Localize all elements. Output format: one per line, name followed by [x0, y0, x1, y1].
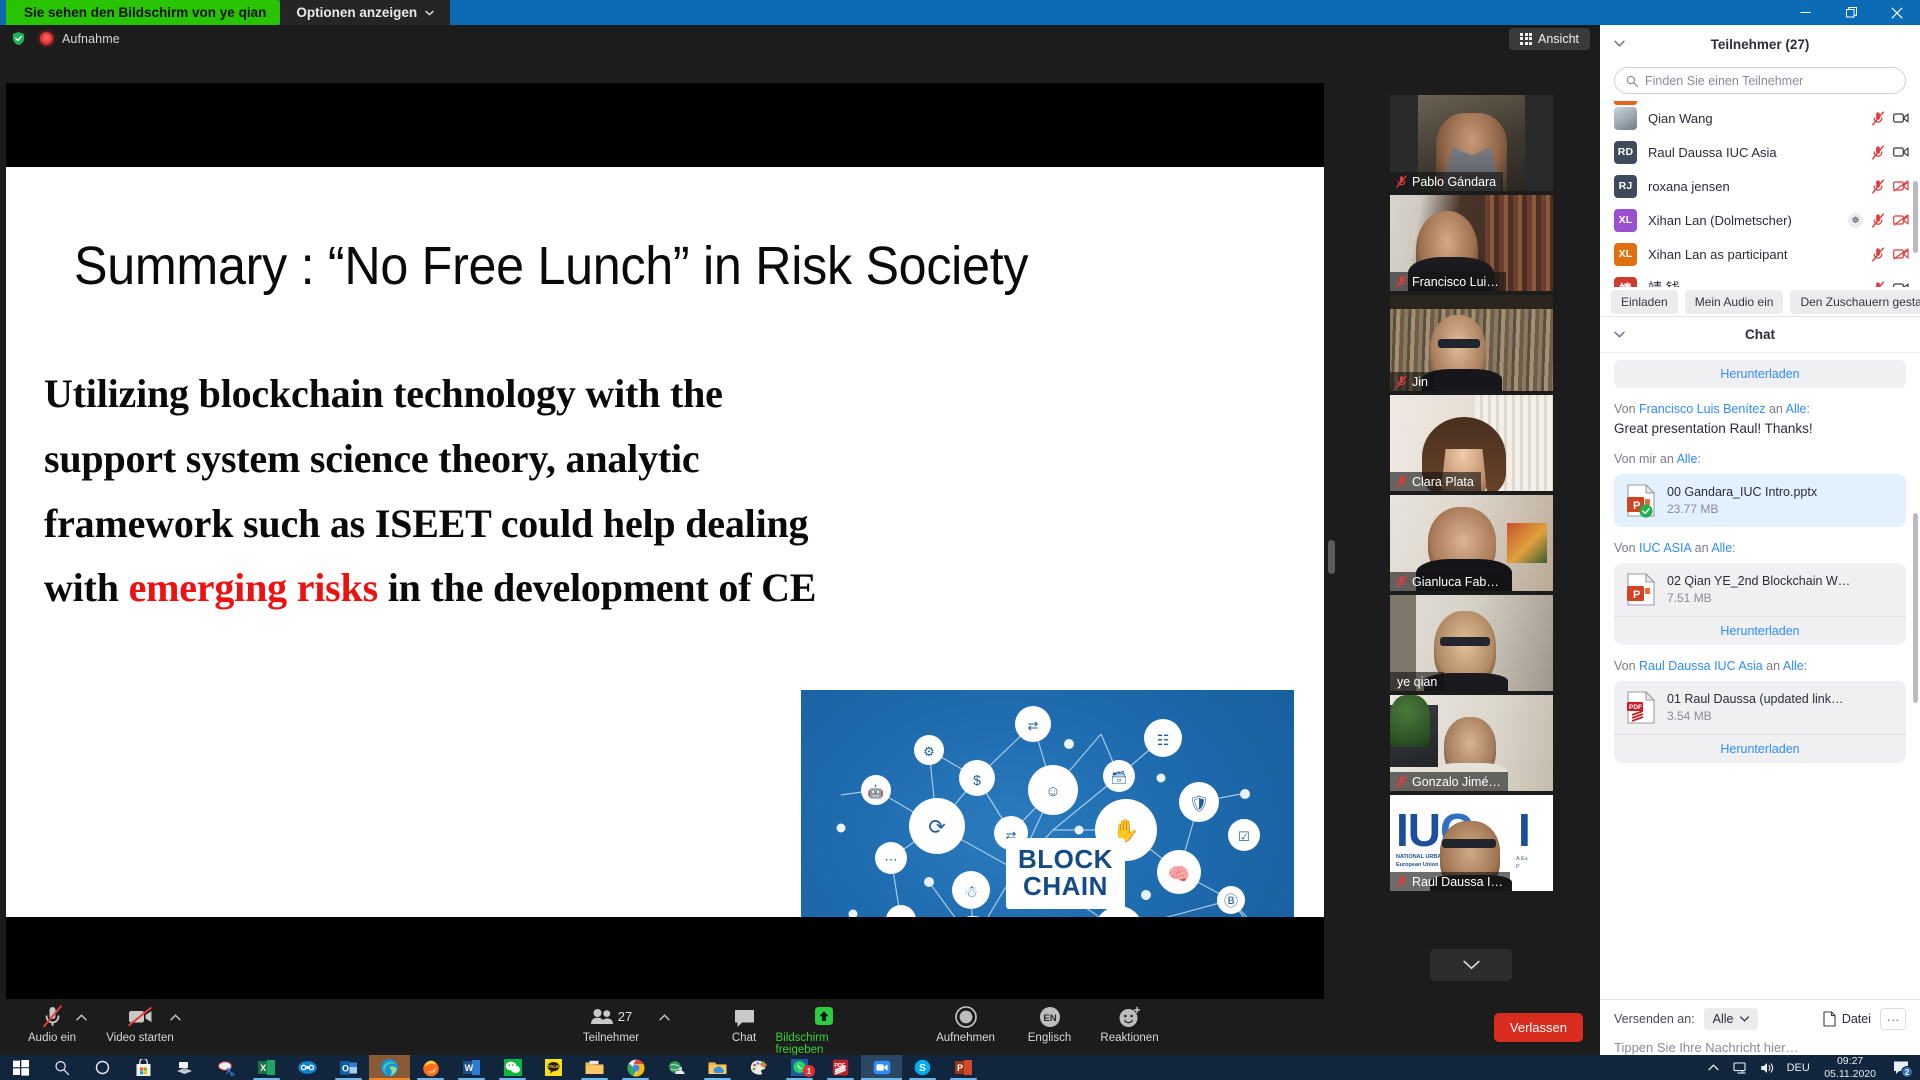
mic-off-icon[interactable]	[1871, 179, 1885, 194]
show-options-button[interactable]: Optionen anzeigen	[280, 0, 450, 25]
snip-scissors-icon	[217, 1060, 235, 1076]
paint[interactable]	[738, 1055, 779, 1080]
blockchain-label: BLOCK CHAIN	[1006, 838, 1125, 909]
participant-search-wrapper: Finden Sie einen Teilnehmer	[1600, 63, 1920, 101]
3d-builder[interactable]	[164, 1055, 205, 1080]
chat-suffix: :	[1804, 659, 1807, 673]
view-button[interactable]: Ansicht	[1509, 28, 1590, 50]
participants-list[interactable]: Qian Wang RD Raul Daussa IUC Asia	[1600, 101, 1920, 287]
interpretation-button-label: Englisch	[1028, 1032, 1071, 1044]
thumbnail-namebar: Francisco Lui…	[1390, 272, 1506, 291]
chat-from-prefix: Von	[1614, 659, 1639, 673]
wechat[interactable]	[492, 1055, 533, 1080]
chat-message-sender-line: Von IUC ASIA an Alle:	[1614, 540, 1906, 557]
chat-send-row: Versenden an: Alle Datei ···	[1614, 1008, 1906, 1030]
restore-button[interactable]	[1828, 0, 1874, 25]
chat-sender-name[interactable]: IUC ASIA	[1639, 541, 1691, 555]
chat-message: Von mir an Alle: P	[1614, 451, 1906, 527]
chat-from-prefix: Von	[1614, 402, 1639, 416]
participant-name: 靖 钱	[1648, 278, 1860, 287]
recording-indicator-icon[interactable]	[40, 32, 53, 45]
partially-scrolled-row-indicator	[1614, 101, 1637, 105]
magnifier-icon	[54, 1060, 70, 1076]
chat-suffix: :	[1807, 402, 1810, 416]
send-to-value: Alle	[1713, 1012, 1734, 1026]
snip-sketch[interactable]	[205, 1055, 246, 1080]
camera-on-icon[interactable]	[1893, 146, 1909, 158]
participant-status-icons	[1871, 281, 1909, 288]
record-icon	[954, 1004, 978, 1029]
whatsapp-badge: 1	[803, 1065, 815, 1077]
file-meta: 01 Raul Daussa (updated link… 3.54 MB	[1667, 692, 1844, 723]
thumbnail-name: Raul Daussa I…	[1412, 875, 1503, 889]
slide-body-text: Utilizing blockchain technology with the…	[44, 362, 834, 621]
chrome-icon	[627, 1059, 645, 1077]
restore-icon	[1846, 7, 1857, 18]
presentation-slide: Summary : “No Free Lunch” in Risk Societ…	[6, 167, 1324, 917]
mic-off-icon	[1396, 775, 1407, 788]
start-button[interactable]	[0, 1055, 41, 1080]
chat-input-placeholder: Tippen Sie Ihre Nachricht hier…	[1614, 1040, 1799, 1055]
participants-collapse-icon[interactable]	[1614, 38, 1625, 50]
participants-button[interactable]: 27 Teilnehmer	[563, 1004, 659, 1044]
microsoft-store[interactable]	[123, 1055, 164, 1080]
mic-off-icon[interactable]	[1871, 281, 1885, 288]
language-icon: EN	[1038, 1004, 1062, 1029]
share-bar-spacer	[450, 0, 1782, 25]
chat-from-prefix: Von	[1614, 452, 1639, 466]
skype[interactable]: S	[902, 1055, 943, 1080]
minimize-button[interactable]	[1782, 0, 1828, 25]
word-icon: W	[463, 1059, 480, 1076]
svg-text:🛡: 🛡	[1189, 795, 1209, 813]
svg-text:P: P	[1633, 589, 1640, 601]
svg-text:S: S	[919, 1063, 926, 1074]
minimize-icon	[1800, 7, 1811, 18]
avatar: XL	[1614, 209, 1637, 232]
filmstrip-scroll-down-button[interactable]	[1430, 949, 1512, 981]
camera-off-icon	[126, 1004, 154, 1029]
participant-row[interactable]: XL Xihan Lan (Dolmetscher) ☸	[1600, 203, 1920, 237]
stage-scrollbar-handle[interactable]	[1328, 540, 1335, 574]
chat-target-name[interactable]: Alle	[1783, 659, 1804, 673]
paint-palette-icon	[749, 1059, 768, 1076]
camera-off-icon[interactable]	[1893, 214, 1909, 226]
video-button-label: Video starten	[106, 1032, 174, 1044]
close-button[interactable]	[1874, 0, 1920, 25]
powerpoint-icon: P	[955, 1059, 972, 1076]
video-thumbnail-clara-plata[interactable]: Clara Plata	[1390, 395, 1553, 491]
cortana-button[interactable]	[82, 1055, 123, 1080]
slide-body-highlight: emerging risks	[129, 565, 378, 610]
outlook[interactable]: O	[328, 1055, 369, 1080]
file-name: 02 Qian YE_2nd Blockchain W…	[1667, 574, 1850, 588]
svg-text:≡: ≡	[897, 914, 905, 917]
microsoft-edge[interactable]	[369, 1055, 410, 1080]
thumbnail-namebar: ye qian	[1390, 672, 1444, 691]
chat-message: Von Francisco Luis Benítez an Alle: Grea…	[1614, 401, 1906, 438]
whatsapp[interactable]: 1	[779, 1055, 820, 1080]
file-attachment-body: P 02 Qian YE_2nd Blockchain W… 7.51 MB	[1614, 563, 1906, 616]
kakaotalk-icon: TALK	[545, 1059, 562, 1076]
windows-logo-icon	[13, 1060, 29, 1076]
camera-on-icon[interactable]	[1893, 282, 1909, 287]
show-hidden-icons-button[interactable]	[1700, 1055, 1727, 1080]
participant-status-icons	[1871, 247, 1909, 262]
file-size: 3.54 MB	[1667, 709, 1844, 723]
avatar-initials: XL	[1619, 214, 1633, 226]
svg-text:☃: ☃	[964, 882, 978, 901]
zoom[interactable]	[861, 1055, 902, 1080]
slide-body-part2: in the development of CE	[378, 565, 816, 610]
participant-row[interactable]: XL Xihan Lan as participant	[1600, 237, 1920, 271]
reactions-icon	[1117, 1004, 1142, 1029]
clock-time: 09:27	[1824, 1055, 1876, 1067]
outlook-icon: O	[340, 1060, 357, 1076]
chat-message-sender-line: Von mir an Alle:	[1614, 451, 1906, 468]
svg-text:PDF: PDF	[1629, 704, 1642, 711]
avatar-initials: RJ	[1619, 180, 1633, 192]
window-controls	[1782, 0, 1920, 25]
thumbnail-namebar: Clara Plata	[1390, 472, 1481, 491]
notification-count: 2	[1901, 1066, 1913, 1078]
slide-title: Summary : “No Free Lunch” in Risk Societ…	[74, 235, 1116, 297]
thumbnail-namebar: Jin	[1390, 372, 1435, 391]
mic-off-icon	[41, 1004, 64, 1029]
chat-middle-text: an	[1763, 659, 1783, 673]
mic-off-icon	[1396, 575, 1407, 588]
thumbnail-name: Gonzalo Jimé…	[1412, 775, 1501, 789]
language-indicator[interactable]: DEU	[1781, 1055, 1815, 1080]
svg-text:W: W	[465, 1063, 474, 1073]
chat-sender-name: mir	[1639, 452, 1656, 466]
meeting-status-bar: Aufnahme Ansicht	[0, 25, 1600, 52]
participant-name: Xihan Lan (Dolmetscher)	[1648, 213, 1837, 228]
google-chrome[interactable]	[615, 1055, 656, 1080]
participant-search-input[interactable]: Finden Sie einen Teilnehmer	[1614, 67, 1906, 94]
chat-target-name[interactable]: Alle	[1677, 452, 1698, 466]
mic-off-icon	[1396, 175, 1407, 188]
chevron-up-icon	[659, 1014, 670, 1021]
chevron-down-icon	[425, 10, 434, 16]
participants-scrollbar[interactable]	[1913, 181, 1918, 253]
edge-icon	[380, 1058, 399, 1077]
thumbnail-namebar: Gianluca Fab…	[1390, 572, 1506, 591]
action-center-button[interactable]: 2	[1885, 1055, 1916, 1080]
file-name: 01 Raul Daussa (updated link…	[1667, 692, 1844, 706]
thumbnail-namebar: Pablo Gándara	[1390, 172, 1503, 191]
interpreter-globe-icon[interactable]: ☸	[1848, 213, 1863, 228]
file-meta: 00 Gandara_IUC Intro.pptx 23.77 MB	[1667, 485, 1817, 516]
thumbnail-namebar: Gonzalo Jimé…	[1390, 772, 1508, 791]
video-thumbnail-gianluca-fab[interactable]: Gianluca Fab…	[1390, 495, 1553, 591]
sharing-notice: Sie sehen den Bildschirm von ye qian	[6, 0, 280, 25]
file-explorer[interactable]	[574, 1055, 615, 1080]
file-attachment-body: PDF 01 Raul Daussa (updated link… 3.54 M…	[1614, 681, 1906, 734]
chat-file-attachment[interactable]: P 00 Gandara_IUC Intro.pptx 23.77 MB	[1614, 474, 1906, 527]
network-button[interactable]	[1727, 1055, 1754, 1080]
chevron-up-icon	[1708, 1064, 1719, 1071]
svg-text:☷: ☷	[1157, 732, 1170, 748]
kakaotalk[interactable]: TALK	[533, 1055, 574, 1080]
participant-row[interactable]: 靖 靖 钱	[1600, 271, 1920, 287]
attach-file-button[interactable]: Datei	[1823, 1011, 1871, 1027]
participant-status-icons	[1871, 111, 1909, 126]
reactions-button-label: Reaktionen	[1100, 1032, 1158, 1044]
mic-off-icon[interactable]	[1871, 111, 1885, 126]
participant-status-icons: ☸	[1848, 213, 1909, 228]
svg-text:$: $	[973, 772, 981, 788]
participant-row[interactable]: RJ roxana jensen	[1600, 169, 1920, 203]
svg-text:⟳: ⟳	[928, 816, 946, 839]
camera-off-icon[interactable]	[1893, 248, 1909, 260]
chevron-up-icon	[170, 1014, 181, 1021]
shared-screen-stage: Summary : “No Free Lunch” in Risk Societ…	[6, 83, 1324, 999]
chat-footer: Versenden an: Alle Datei ··· Tippen Sie …	[1600, 999, 1920, 1055]
avatar: RJ	[1614, 175, 1637, 198]
folder-icon	[585, 1060, 604, 1076]
show-options-label: Optionen anzeigen	[296, 5, 417, 20]
video-options-caret[interactable]	[170, 1013, 181, 1024]
chat-file-attachment[interactable]: PDF 01 Raul Daussa (updated link… 3.54 M…	[1614, 681, 1906, 763]
clock-date: 05.11.2020	[1824, 1068, 1876, 1080]
participant-name: Qian Wang	[1648, 111, 1860, 126]
svg-text:🧠: 🧠	[1168, 864, 1190, 884]
thumbnail-name: ye qian	[1397, 675, 1437, 689]
powerpoint[interactable]: P	[943, 1055, 984, 1080]
file-size: 7.51 MB	[1667, 591, 1850, 605]
nextcloud[interactable]	[287, 1055, 328, 1080]
encryption-shield-icon[interactable]	[10, 30, 27, 47]
chat-button-label: Chat	[732, 1032, 756, 1044]
chat-target-name[interactable]: Alle	[1711, 541, 1732, 555]
chat-message: Von IUC ASIA an Alle: P 02 Qian	[1614, 540, 1906, 645]
thumbnail-name: Francisco Lui…	[1412, 275, 1499, 289]
video-button[interactable]: Video starten	[92, 1004, 188, 1044]
network-icon	[1733, 1061, 1748, 1075]
participants-panel-title: Teilnehmer (27)	[1600, 37, 1920, 52]
screen-share-bar: Sie sehen den Bildschirm von ye qian Opt…	[0, 0, 1920, 25]
participant-status-icons	[1871, 179, 1909, 194]
unmute-me-button[interactable]: Mein Audio ein	[1685, 290, 1784, 314]
chat-target-name[interactable]: Alle	[1786, 402, 1807, 416]
record-button[interactable]: Aufnehmen	[918, 1004, 1014, 1044]
excel[interactable]: X	[246, 1055, 287, 1080]
svg-text:⋯: ⋯	[885, 852, 898, 867]
participants-action-bar: Einladen Mein Audio ein Den Zuschauern g…	[1600, 287, 1920, 317]
zoom-camera-icon	[873, 1060, 891, 1075]
word[interactable]: W	[451, 1055, 492, 1080]
invite-button[interactable]: Einladen	[1611, 290, 1678, 314]
svg-text:P: P	[957, 1063, 963, 1073]
svg-text:EN: EN	[1043, 1013, 1056, 1024]
attach-file-label: Datei	[1842, 1012, 1871, 1026]
video-thumbnail-pablo-gandara[interactable]: Pablo Gándara	[1390, 95, 1553, 191]
participant-row[interactable]: Qian Wang	[1600, 101, 1920, 135]
video-thumbnail-gonzalo-jime[interactable]: Gonzalo Jimé…	[1390, 695, 1553, 791]
powerpoint-file-icon: P	[1626, 573, 1656, 606]
chevron-down-icon	[1463, 960, 1480, 970]
share-screen-button-label: Bildschirm freigeben	[776, 1032, 872, 1056]
avatar: XL	[1614, 243, 1637, 266]
video-thumbnail-strip: Pablo Gándara Francisco Lui…	[1384, 83, 1552, 999]
avatar-initials: XL	[1619, 248, 1633, 260]
mic-off-icon	[1396, 875, 1407, 888]
participant-row[interactable]: RD Raul Daussa IUC Asia	[1600, 135, 1920, 169]
participants-button-label: Teilnehmer	[583, 1032, 639, 1044]
chat-message-sender-line: Von Raul Daussa IUC Asia an Alle:	[1614, 658, 1906, 675]
blockchain-label-line2: CHAIN	[1018, 873, 1113, 900]
camera-on-icon[interactable]	[1893, 112, 1909, 124]
chat-panel-title: Chat	[1600, 327, 1920, 342]
participant-status-icons	[1871, 145, 1909, 160]
globe-app[interactable]	[656, 1055, 697, 1080]
mic-off-icon	[1396, 275, 1407, 288]
grid-view-icon	[1520, 33, 1532, 45]
store-bag-icon	[135, 1059, 152, 1077]
nextcloud-icon	[298, 1060, 317, 1075]
svg-text:O: O	[342, 1063, 349, 1073]
firefox-icon	[422, 1059, 440, 1077]
thumbnail-name: Clara Plata	[1412, 475, 1474, 489]
share-screen-icon	[811, 1004, 837, 1029]
send-to-dropdown[interactable]: Alle	[1704, 1008, 1759, 1030]
onedrive-folder[interactable]	[697, 1055, 738, 1080]
clock[interactable]: 09:27 05.11.2020	[1815, 1055, 1885, 1080]
chat-collapse-icon[interactable]	[1614, 329, 1625, 341]
more-dots-icon: ···	[1887, 1012, 1900, 1027]
chat-message: Von Raul Daussa IUC Asia an Alle: PDF	[1614, 658, 1906, 763]
participants-icon: 27	[590, 1004, 632, 1029]
chat-suffix: :	[1697, 452, 1700, 466]
powerpoint-file-icon: P	[1626, 484, 1656, 517]
file-icon	[1823, 1011, 1836, 1027]
video-thumbnail-ye-qian[interactable]: ye qian	[1390, 595, 1553, 691]
chat-middle-text: an	[1765, 402, 1785, 416]
participants-options-caret[interactable]	[659, 1013, 670, 1024]
avatar-initials: RD	[1618, 146, 1634, 158]
search-icon	[1626, 75, 1638, 87]
chevron-down-icon	[1740, 1016, 1749, 1022]
participant-name: Raul Daussa IUC Asia	[1648, 145, 1860, 160]
file-attachment-body: P 00 Gandara_IUC Intro.pptx 23.77 MB	[1614, 474, 1906, 527]
leave-meeting-label: Verlassen	[1510, 1020, 1567, 1035]
chat-message-text: Great presentation Raul! Thanks!	[1614, 420, 1906, 438]
file-meta: 02 Qian YE_2nd Blockchain W… 7.51 MB	[1667, 574, 1850, 605]
participants-count: 27	[618, 1009, 632, 1024]
audio-options-caret[interactable]	[76, 1013, 87, 1024]
svg-text:🤖: 🤖	[868, 784, 884, 799]
audio-button[interactable]: Audio ein	[4, 1004, 100, 1044]
search-button[interactable]	[41, 1055, 82, 1080]
adobe-acrobat[interactable]: PDF	[820, 1055, 861, 1080]
windows-taskbar: X O W	[0, 1055, 1920, 1080]
file-download-link[interactable]: Herunterladen	[1614, 734, 1906, 763]
file-size: 23.77 MB	[1667, 502, 1817, 516]
svg-text:☺: ☺	[1045, 783, 1060, 800]
chat-middle-text: an	[1691, 541, 1711, 555]
video-thumbnail-jin[interactable]: Jin	[1390, 295, 1553, 391]
blockchain-label-line1: BLOCK	[1018, 846, 1113, 873]
chat-suffix: :	[1732, 541, 1735, 555]
right-side-panel: Teilnehmer (27) Finden Sie einen Teilneh…	[1600, 25, 1920, 1055]
thumbnail-namebar: Raul Daussa I…	[1390, 872, 1510, 891]
chat-messages-area[interactable]: Herunterladen Von Francisco Luis Benítez…	[1600, 353, 1920, 999]
reactions-button[interactable]: Reaktionen	[1082, 1004, 1178, 1044]
chat-from-prefix: Von	[1614, 541, 1639, 555]
share-screen-button[interactable]: Bildschirm freigeben	[776, 1004, 872, 1056]
svg-text:☑: ☑	[1238, 829, 1250, 844]
participant-name: roxana jensen	[1648, 179, 1860, 194]
avatar-initials: 靖	[1619, 280, 1631, 288]
audio-button-label: Audio ein	[28, 1032, 76, 1044]
printer-3d-icon	[175, 1060, 194, 1076]
mic-off-icon[interactable]	[1871, 145, 1885, 160]
video-thumbnail-raul-daussa[interactable]: IUC I NATIONAL URBAN COOEuropean Union A…	[1390, 795, 1553, 891]
participant-search-placeholder: Finden Sie einen Teilnehmer	[1645, 74, 1803, 88]
chat-scrollbar[interactable]	[1913, 513, 1918, 703]
mic-off-icon[interactable]	[1871, 213, 1885, 228]
chat-message-sender-line: Von Francisco Luis Benítez an Alle:	[1614, 401, 1906, 418]
avatar	[1614, 107, 1637, 130]
zoom-meeting-window: Aufnahme Ansicht Summary : “No Free Lunc…	[0, 25, 1600, 1055]
leave-meeting-button[interactable]: Verlassen	[1494, 1013, 1583, 1042]
svg-text:⚙: ⚙	[923, 744, 935, 759]
camera-off-icon[interactable]	[1893, 180, 1909, 192]
allow-attendees-button[interactable]: Den Zuschauern gestatten, di	[1790, 290, 1920, 314]
mic-off-icon	[1396, 475, 1407, 488]
close-icon	[1891, 7, 1903, 19]
thumbnail-name: Jin	[1412, 375, 1428, 389]
chat-panel-header: Chat	[1600, 317, 1920, 353]
thumbnail-name: Pablo Gándara	[1412, 175, 1496, 189]
svg-text:Ⓑ: Ⓑ	[1224, 894, 1238, 910]
file-name: 00 Gandara_IUC Intro.pptx	[1667, 485, 1817, 499]
mic-off-icon	[1396, 375, 1407, 388]
chat-sender-name[interactable]: Raul Daussa IUC Asia	[1639, 659, 1763, 673]
firefox[interactable]	[410, 1055, 451, 1080]
participant-name: Xihan Lan as participant	[1648, 247, 1860, 262]
blockchain-network-illustration: ☺ ✋ 👁 ⟳ 👱 🧠 🛡 Ⓑ ☃ 🤖 ⋯ ⇄ ⇄ $	[801, 690, 1294, 917]
mic-off-icon[interactable]	[1871, 247, 1885, 262]
excel-icon: X	[258, 1059, 275, 1076]
video-thumbnail-francisco-lui[interactable]: Francisco Lui…	[1390, 195, 1553, 291]
participants-panel-header: Teilnehmer (27)	[1600, 25, 1920, 63]
thumbnail-name: Gianluca Fab…	[1412, 575, 1499, 589]
speaker-icon	[1760, 1061, 1775, 1075]
recording-label: Aufnahme	[62, 32, 120, 46]
meeting-toolbar: Audio ein Video starten	[0, 999, 1600, 1055]
onedrive-folder-icon	[708, 1060, 727, 1076]
view-button-label: Ansicht	[1538, 32, 1579, 46]
chat-sender-name[interactable]: Francisco Luis Benítez	[1639, 402, 1765, 416]
file-download-link[interactable]: Herunterladen	[1614, 616, 1906, 645]
chat-more-options-button[interactable]: ···	[1880, 1008, 1906, 1030]
record-button-label: Aufnehmen	[936, 1032, 995, 1044]
system-tray: DEU 09:27 05.11.2020 2	[1700, 1055, 1920, 1080]
cortana-circle-icon	[95, 1060, 110, 1075]
wechat-icon	[504, 1059, 522, 1076]
chat-file-attachment[interactable]: P 02 Qian YE_2nd Blockchain W… 7.51 MB H…	[1614, 563, 1906, 645]
chat-message-input[interactable]: Tippen Sie Ihre Nachricht hier…	[1614, 1030, 1906, 1055]
avatar: RD	[1614, 141, 1637, 164]
download-link-top[interactable]: Herunterladen	[1614, 360, 1906, 388]
skype-icon: S	[914, 1059, 931, 1076]
volume-button[interactable]	[1754, 1055, 1781, 1080]
globe-ship-icon	[667, 1060, 686, 1076]
avatar: 靖	[1614, 277, 1637, 288]
pdf-file-icon: PDF	[1626, 691, 1656, 724]
